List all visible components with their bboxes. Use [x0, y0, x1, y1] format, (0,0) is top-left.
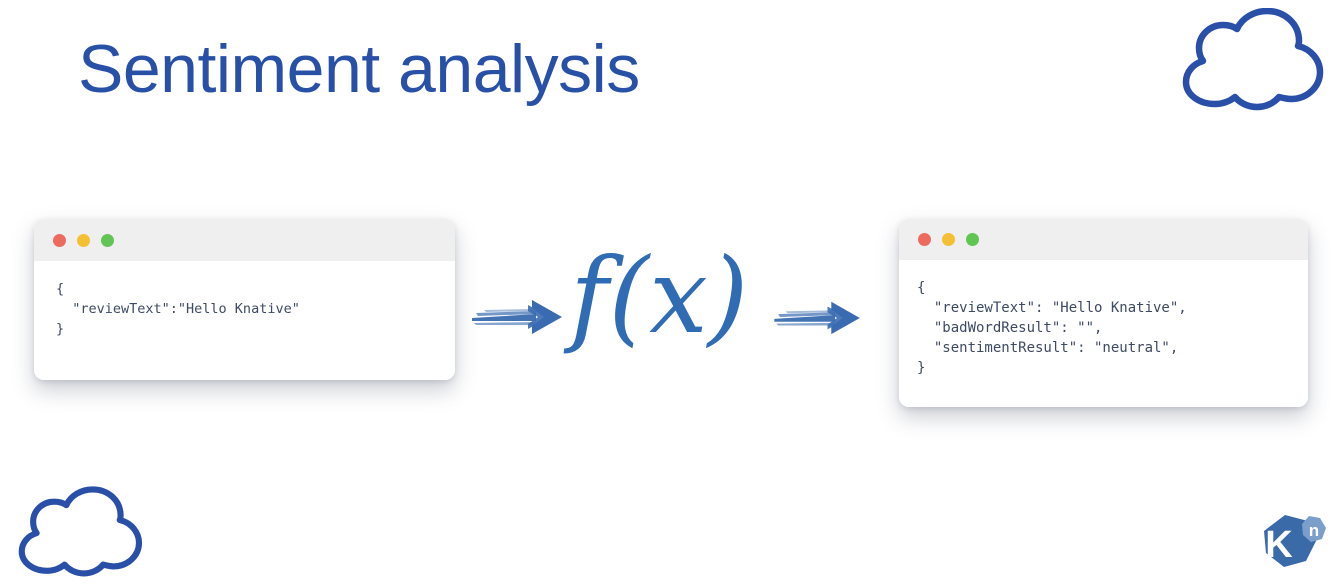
knative-letter-k: K: [1265, 524, 1293, 566]
knative-logo: K n: [1258, 511, 1328, 582]
maximize-dot[interactable]: [101, 234, 114, 247]
cloud-outline-icon: [1168, 8, 1328, 116]
arrow-right-icon: [470, 296, 566, 336]
window-body: { "reviewText": "Hello Knative", "badWor…: [899, 260, 1308, 407]
output-json-window: { "reviewText": "Hello Knative", "badWor…: [899, 219, 1308, 407]
maximize-dot[interactable]: [966, 233, 979, 246]
cloud-top-right-decoration: [1168, 8, 1328, 121]
function-symbol: f(x): [570, 244, 748, 348]
window-body: { "reviewText":"Hello Knative" }: [34, 261, 455, 380]
minimize-dot[interactable]: [77, 234, 90, 247]
knative-letter-n: n: [1309, 521, 1319, 540]
cloud-outline-icon: [6, 486, 146, 582]
close-dot[interactable]: [918, 233, 931, 246]
input-json-code: { "reviewText":"Hello Knative" }: [34, 279, 455, 339]
close-dot[interactable]: [53, 234, 66, 247]
window-titlebar: [899, 219, 1308, 260]
knative-logo-icon: K n: [1258, 511, 1328, 577]
cloud-bottom-left-decoration: [6, 486, 146, 587]
page-title: Sentiment analysis: [78, 32, 640, 107]
arrow-right-icon: [772, 298, 864, 336]
minimize-dot[interactable]: [942, 233, 955, 246]
flow-arrow-left: [470, 296, 566, 341]
input-json-window: { "reviewText":"Hello Knative" }: [34, 219, 455, 380]
window-titlebar: [34, 219, 455, 261]
output-json-code: { "reviewText": "Hello Knative", "badWor…: [899, 278, 1308, 378]
flow-arrow-right: [772, 298, 864, 341]
